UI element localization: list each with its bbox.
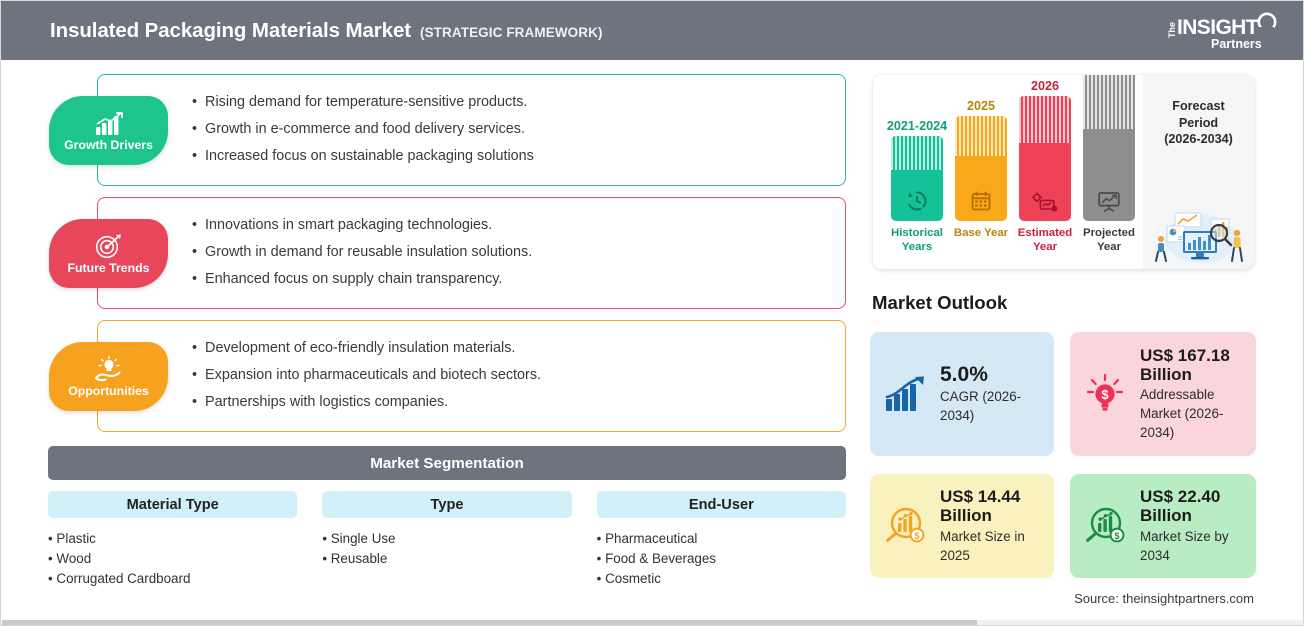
market-segmentation-header: Market Segmentation <box>48 446 846 480</box>
svg-text:$: $ <box>1114 531 1119 541</box>
segmentation-column-header: Material Type <box>48 491 297 518</box>
kpi-card-market-size-2034: $ US$ 22.40 Billion Market Size by 2034 <box>1070 474 1256 578</box>
page-title: Insulated Packaging Materials Market <box>50 19 411 43</box>
market-outlook-title: Market Outlook <box>872 292 1007 314</box>
bar-body <box>1083 75 1135 221</box>
kpi-label: CAGR (2026-2034) <box>940 387 1054 425</box>
bullet-item: Partnerships with logistics companies. <box>192 395 541 411</box>
forecast-timeline-bars: 2021-2024 Histor <box>873 75 1143 269</box>
bullet-item: Innovations in smart packaging technolog… <box>192 218 532 234</box>
forecast-period-label: Forecast Period (2026-2034) <box>1143 98 1254 148</box>
segmentation-column-end-user: End-User Pharmaceutical Food & Beverages… <box>597 491 846 591</box>
magnifier-bar-dollar-icon: $ <box>884 506 926 546</box>
timeline-bar-year: 2021-2024 <box>878 119 956 133</box>
badge-future-trends: Future Trends <box>49 219 168 288</box>
kpi-card-addressable-market: $ US$ 167.18 Billion Addressable Market … <box>1070 332 1256 456</box>
timeline-bar-year: 2026 <box>1006 79 1084 93</box>
source-attribution: Source: theinsightpartners.com <box>1074 591 1254 606</box>
forecast-period-card: 2021-2024 Histor <box>873 75 1254 269</box>
settings-analytics-icon <box>1019 192 1071 212</box>
kpi-text-group: US$ 14.44 Billion Market Size in 2025 <box>940 487 1054 564</box>
list-item: Corrugated Cardboard <box>48 569 297 589</box>
kpi-label: Market Size by 2034 <box>1140 527 1256 565</box>
bullet-item: Expansion into pharmaceuticals and biote… <box>192 368 541 384</box>
svg-text:$: $ <box>914 531 919 541</box>
bullet-item: Development of eco-friendly insulation m… <box>192 341 541 357</box>
calendar-icon <box>955 190 1007 212</box>
badge-label: Opportunities <box>68 384 149 398</box>
svg-text:The: The <box>1167 22 1177 38</box>
bar-body <box>955 116 1007 221</box>
framework-box-future-trends: Innovations in smart packaging technolog… <box>97 197 846 309</box>
kpi-label: Addressable Market (2026-2034) <box>1140 385 1256 442</box>
timeline-bar-historical: 2021-2024 Histor <box>891 136 943 221</box>
kpi-text-group: US$ 22.40 Billion Market Size by 2034 <box>1140 487 1256 564</box>
horizontal-scrollbar[interactable] <box>2 620 1303 625</box>
svg-text:INSIGHT: INSIGHT <box>1177 16 1259 39</box>
segmentation-column-material-type: Material Type Plastic Wood Corrugated Ca… <box>48 491 297 591</box>
segmentation-column-type: Type Single Use Reusable <box>322 491 571 591</box>
presentation-chart-icon <box>1083 190 1135 212</box>
market-segmentation-columns: Material Type Plastic Wood Corrugated Ca… <box>48 491 846 591</box>
svg-text:$: $ <box>1101 387 1109 402</box>
history-clock-icon <box>891 190 943 212</box>
bar-chart-growth-icon <box>94 110 124 136</box>
bar-stripe-texture <box>1019 96 1071 143</box>
kpi-text-group: US$ 167.18 Billion Addressable Market (2… <box>1140 346 1256 442</box>
timeline-bar-caption: Projected Year <box>1071 226 1147 255</box>
list-item: Single Use <box>322 529 571 549</box>
infographic-canvas: Insulated Packaging Materials Market (ST… <box>0 0 1304 626</box>
insight-partners-logo: The INSIGHT Partners <box>1155 10 1279 52</box>
bar-stripe-texture <box>1083 75 1135 129</box>
scrollbar-thumb[interactable] <box>2 620 977 625</box>
segmentation-column-label: End-User <box>689 497 754 513</box>
kpi-card-market-size-2025: $ US$ 14.44 Billion Market Size in 2025 <box>870 474 1054 578</box>
kpi-card-cagr: 5.0% CAGR (2026-2034) <box>870 332 1054 456</box>
timeline-bar-estimated: 2026 <box>1019 96 1071 221</box>
growth-chart-arrow-icon <box>884 375 926 413</box>
lightbulb-dollar-icon: $ <box>1084 373 1126 415</box>
page-subtitle: (STRATEGIC FRAMEWORK) <box>420 25 603 40</box>
list-item: Cosmetic <box>597 569 846 589</box>
bar-body <box>891 136 943 221</box>
badge-opportunities: Opportunities <box>49 342 168 411</box>
header-bar: Insulated Packaging Materials Market (ST… <box>1 1 1304 60</box>
list-item: Plastic <box>48 529 297 549</box>
list-item: Pharmaceutical <box>597 529 846 549</box>
kpi-value: US$ 22.40 Billion <box>1140 487 1256 525</box>
timeline-bar-projected: 2034 <box>1083 75 1135 221</box>
list-item: Wood <box>48 549 297 569</box>
bar-body <box>1019 96 1071 221</box>
svg-text:Partners: Partners <box>1211 37 1262 51</box>
kpi-value: US$ 14.44 Billion <box>940 487 1054 525</box>
kpi-value: US$ 167.18 Billion <box>1140 346 1256 384</box>
segmentation-column-header: End-User <box>597 491 846 518</box>
kpi-label: Market Size in 2025 <box>940 527 1054 565</box>
magnifier-bar-dollar-icon: $ <box>1084 506 1126 546</box>
timeline-bar-base: 2025 <box>955 116 1007 221</box>
bar-stripe-texture <box>955 116 1007 156</box>
kpi-value: 5.0% <box>940 363 1054 387</box>
timeline-bar-year: 2025 <box>942 99 1020 113</box>
bullet-item: Enhanced focus on supply chain transpare… <box>192 272 532 288</box>
forecast-period-panel: Forecast Period (2026-2034) <box>1143 75 1254 269</box>
badge-label: Future Trends <box>68 261 150 275</box>
target-dart-icon <box>95 233 123 259</box>
list-item: Reusable <box>322 549 571 569</box>
kpi-text-group: 5.0% CAGR (2026-2034) <box>940 363 1054 426</box>
lightbulb-hand-icon <box>94 356 124 382</box>
framework-box-opportunities: Development of eco-friendly insulation m… <box>97 320 846 432</box>
bullet-item: Increased focus on sustainable packaging… <box>192 149 534 165</box>
framework-box-growth-drivers: Rising demand for temperature-sensitive … <box>97 74 846 186</box>
bar-stripe-texture <box>891 136 943 170</box>
bullet-item: Growth in e-commerce and food delivery s… <box>192 122 534 138</box>
header-title-group: Insulated Packaging Materials Market (ST… <box>50 19 603 43</box>
segmentation-column-header: Type <box>322 491 571 518</box>
list-item: Food & Beverages <box>597 549 846 569</box>
badge-label: Growth Drivers <box>64 138 153 152</box>
badge-growth-drivers: Growth Drivers <box>49 96 168 165</box>
business-analytics-illustration <box>1147 199 1251 265</box>
segmentation-column-label: Type <box>431 497 464 513</box>
market-segmentation-title: Market Segmentation <box>370 455 524 472</box>
bullet-item: Growth in demand for reusable insulation… <box>192 245 532 261</box>
bullet-item: Rising demand for temperature-sensitive … <box>192 95 534 111</box>
segmentation-column-label: Material Type <box>127 497 219 513</box>
